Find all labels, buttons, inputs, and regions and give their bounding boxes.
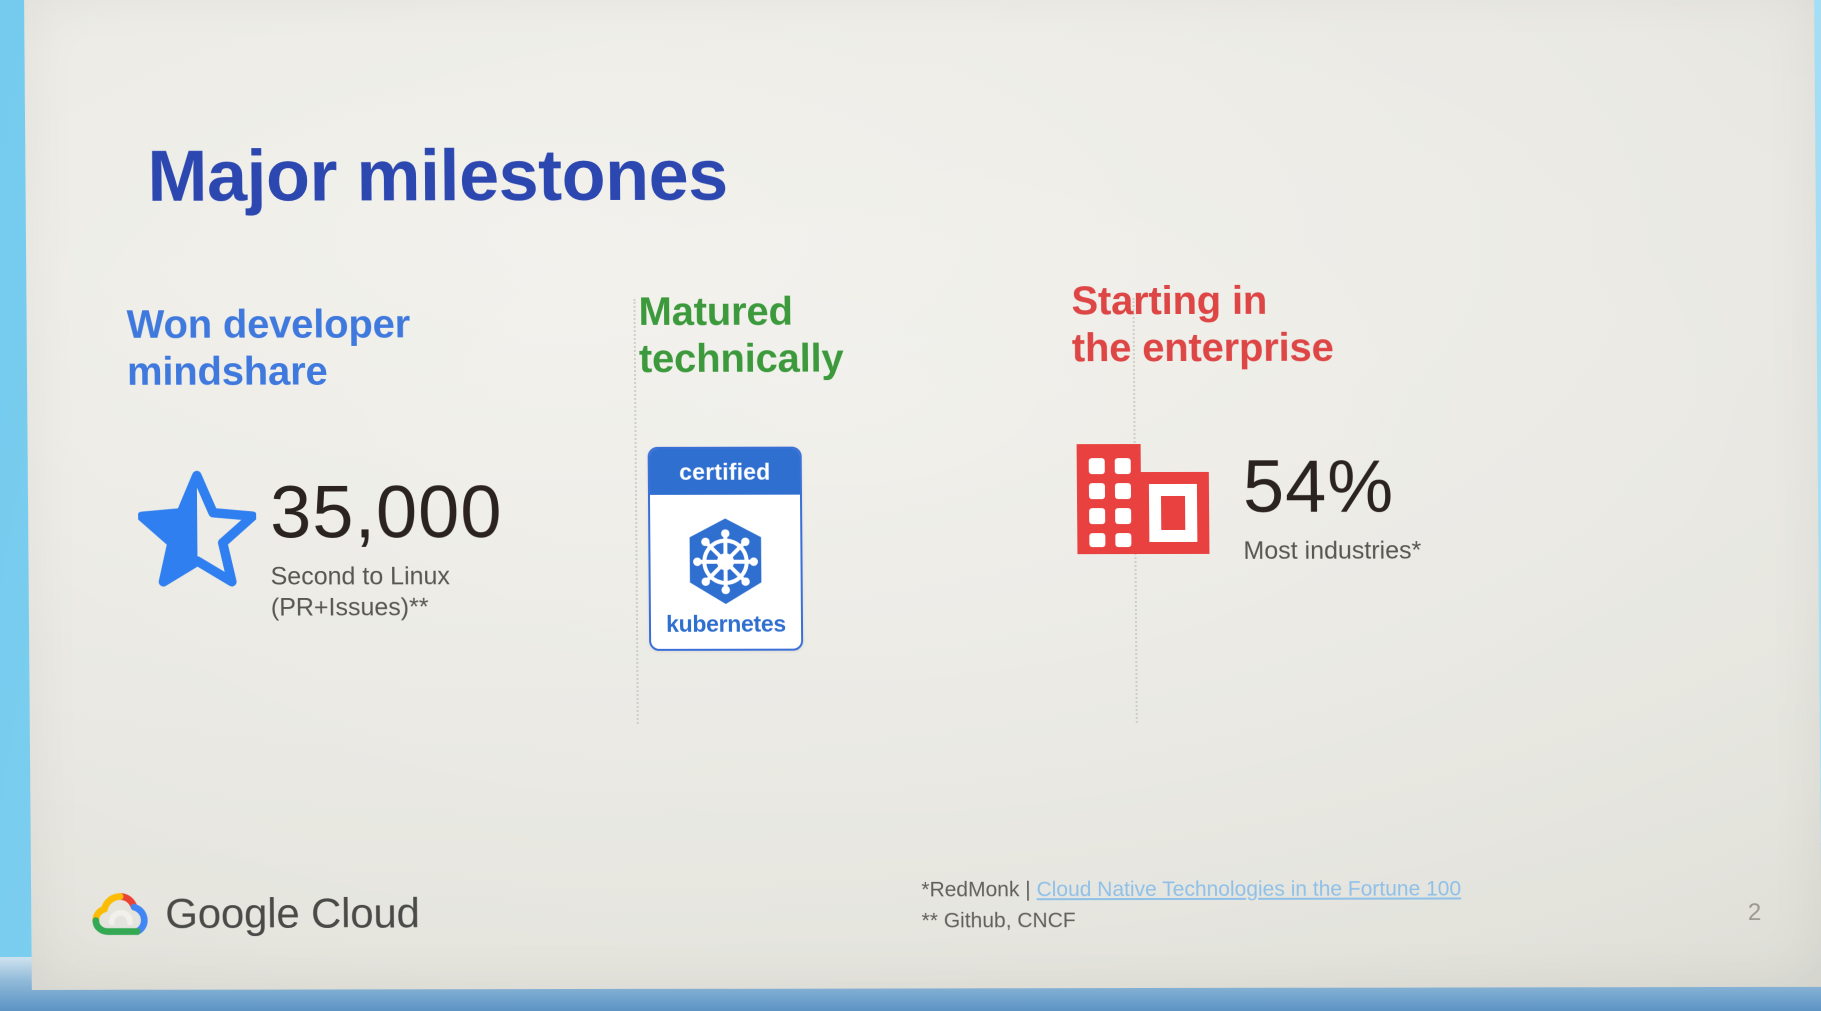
certified-kubernetes-badge: certified: [648, 447, 804, 651]
stat-developer-mindshare: 35,000 Second to Linux (PR+Issues)**: [138, 469, 504, 623]
footnotes: *RedMonk | Cloud Native Technologies in …: [921, 875, 1461, 937]
page-number: 2: [1748, 899, 1762, 927]
page-title: Major milestones: [147, 135, 728, 218]
office-building-icon: [1073, 438, 1214, 558]
stat-starting-in-enterprise: 54% Most industries*: [1073, 438, 1422, 567]
kubernetes-helm-icon: [678, 514, 773, 608]
stat-value-starting-in-enterprise: 54%: [1243, 450, 1421, 524]
google-cloud-logo: Google Cloud: [91, 889, 420, 938]
stat-value-developer-mindshare: 35,000: [270, 475, 503, 549]
column-heading-developer-mindshare: Won developer mindshare: [126, 301, 597, 396]
badge-body: kubernetes: [650, 495, 801, 651]
footnote-redmonk-prefix: *RedMonk |: [921, 878, 1036, 901]
footnote-redmonk-link[interactable]: Cloud Native Technologies in the Fortune…: [1036, 878, 1461, 902]
footnote-redmonk: *RedMonk | Cloud Native Technologies in …: [921, 875, 1461, 906]
logo-word-google: Google: [165, 890, 300, 937]
badge-header-label: certified: [650, 449, 800, 495]
half-star-icon: [138, 470, 257, 588]
stat-caption-developer-mindshare: Second to Linux (PR+Issues)**: [270, 561, 503, 622]
logo-word-cloud: Cloud: [311, 889, 420, 936]
milestone-columns: Won developer mindshare 35,000 Second to…: [126, 277, 1750, 730]
column-developer-mindshare: Won developer mindshare 35,000 Second to…: [126, 279, 600, 730]
column-starting-in-enterprise: Starting in the enterprise: [1071, 277, 1545, 728]
footnote-github-cncf: ** Github, CNCF: [921, 905, 1461, 936]
presentation-photo: Major milestones Won developer mindshare: [0, 0, 1821, 1011]
column-heading-matured-technically: Matured technically: [638, 288, 1109, 383]
column-matured-technically: Matured technically certified: [638, 278, 1112, 729]
google-cloud-wordmark: Google Cloud: [165, 889, 420, 937]
badge-product-label: kubernetes: [666, 610, 786, 637]
stat-caption-starting-in-enterprise: Most industries*: [1243, 536, 1421, 567]
projected-slide: Major milestones Won developer mindshare: [24, 0, 1821, 990]
column-heading-starting-in-enterprise: Starting in the enterprise: [1071, 277, 1542, 372]
slide-content: Major milestones Won developer mindshare: [24, 0, 1821, 990]
google-cloud-mark-icon: [91, 890, 149, 938]
